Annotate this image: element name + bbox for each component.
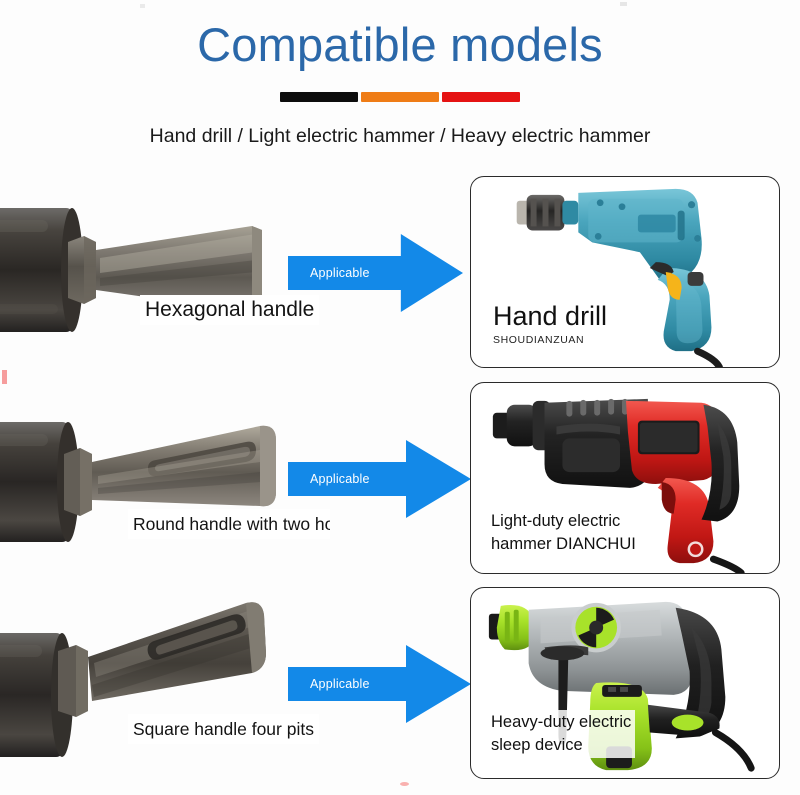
- card-subtitle-hand-drill: SHOUDIANZUAN: [493, 333, 607, 348]
- card-title-heavy-hammer-line1: Heavy-duty electric: [491, 711, 631, 734]
- hexagonal-bit-icon: [0, 178, 310, 363]
- drill-bit-photo-hexagonal: Hexagonal handle: [0, 172, 330, 377]
- page-subtitle: Hand drill / Light electric hammer / Hea…: [0, 123, 800, 149]
- color-legend-bars: [0, 92, 800, 102]
- round-shank-illustration: [0, 384, 310, 569]
- row-square-handle-four-pits: Square handle four pits Applicable: [0, 583, 800, 788]
- tool-card-heavy-hammer[interactable]: Heavy-duty electric sleep device: [470, 587, 780, 779]
- tool-card-hand-drill[interactable]: Hand drill SHOUDIANZUAN: [470, 176, 780, 368]
- color-bar-light-hammer: [361, 92, 439, 102]
- square-shank-bit-icon: [0, 589, 310, 774]
- right-arrow-icon: [288, 440, 471, 518]
- applicable-arrow-2: Applicable: [288, 440, 471, 518]
- tool-card-light-hammer[interactable]: Light-duty electric hammer DIANCHUI: [470, 382, 780, 574]
- heavy-hammer-caption: Heavy-duty electric sleep device: [487, 710, 635, 758]
- compatible-models-infographic: Compatible models Hand drill / Light ele…: [0, 0, 800, 795]
- drill-bit-photo-square: Square handle four pits: [0, 583, 330, 788]
- card-title-light-hammer-line2: hammer DIANCHUI: [491, 533, 636, 556]
- card-title-heavy-hammer-line2: sleep device: [491, 734, 631, 757]
- color-bar-hand-drill: [280, 92, 358, 102]
- card-title-hand-drill: Hand drill: [493, 300, 607, 333]
- square-shank-illustration: [0, 589, 310, 774]
- card-title-light-hammer-line1: Light-duty electric: [491, 510, 636, 533]
- header: Compatible models Hand drill / Light ele…: [0, 0, 800, 168]
- hexagonal-shank-illustration: [0, 178, 310, 363]
- hand-drill-caption: Hand drill SHOUDIANZUAN: [489, 299, 611, 349]
- applicable-arrow-3: Applicable: [288, 645, 471, 723]
- row-round-handle-two-holes: Round handle with two holes Applicable: [0, 378, 800, 583]
- right-arrow-icon: [288, 234, 463, 312]
- applicable-arrow-1: Applicable: [288, 234, 463, 312]
- row-hexagonal-handle: Hexagonal handle Applicable: [0, 172, 800, 377]
- page-title: Compatible models: [0, 16, 800, 74]
- drill-bit-photo-round: Round handle with two holes: [0, 378, 330, 583]
- color-bar-heavy-hammer: [442, 92, 520, 102]
- right-arrow-icon: [288, 645, 471, 723]
- round-shank-bit-icon: [0, 384, 310, 569]
- light-hammer-caption: Light-duty electric hammer DIANCHUI: [487, 509, 640, 557]
